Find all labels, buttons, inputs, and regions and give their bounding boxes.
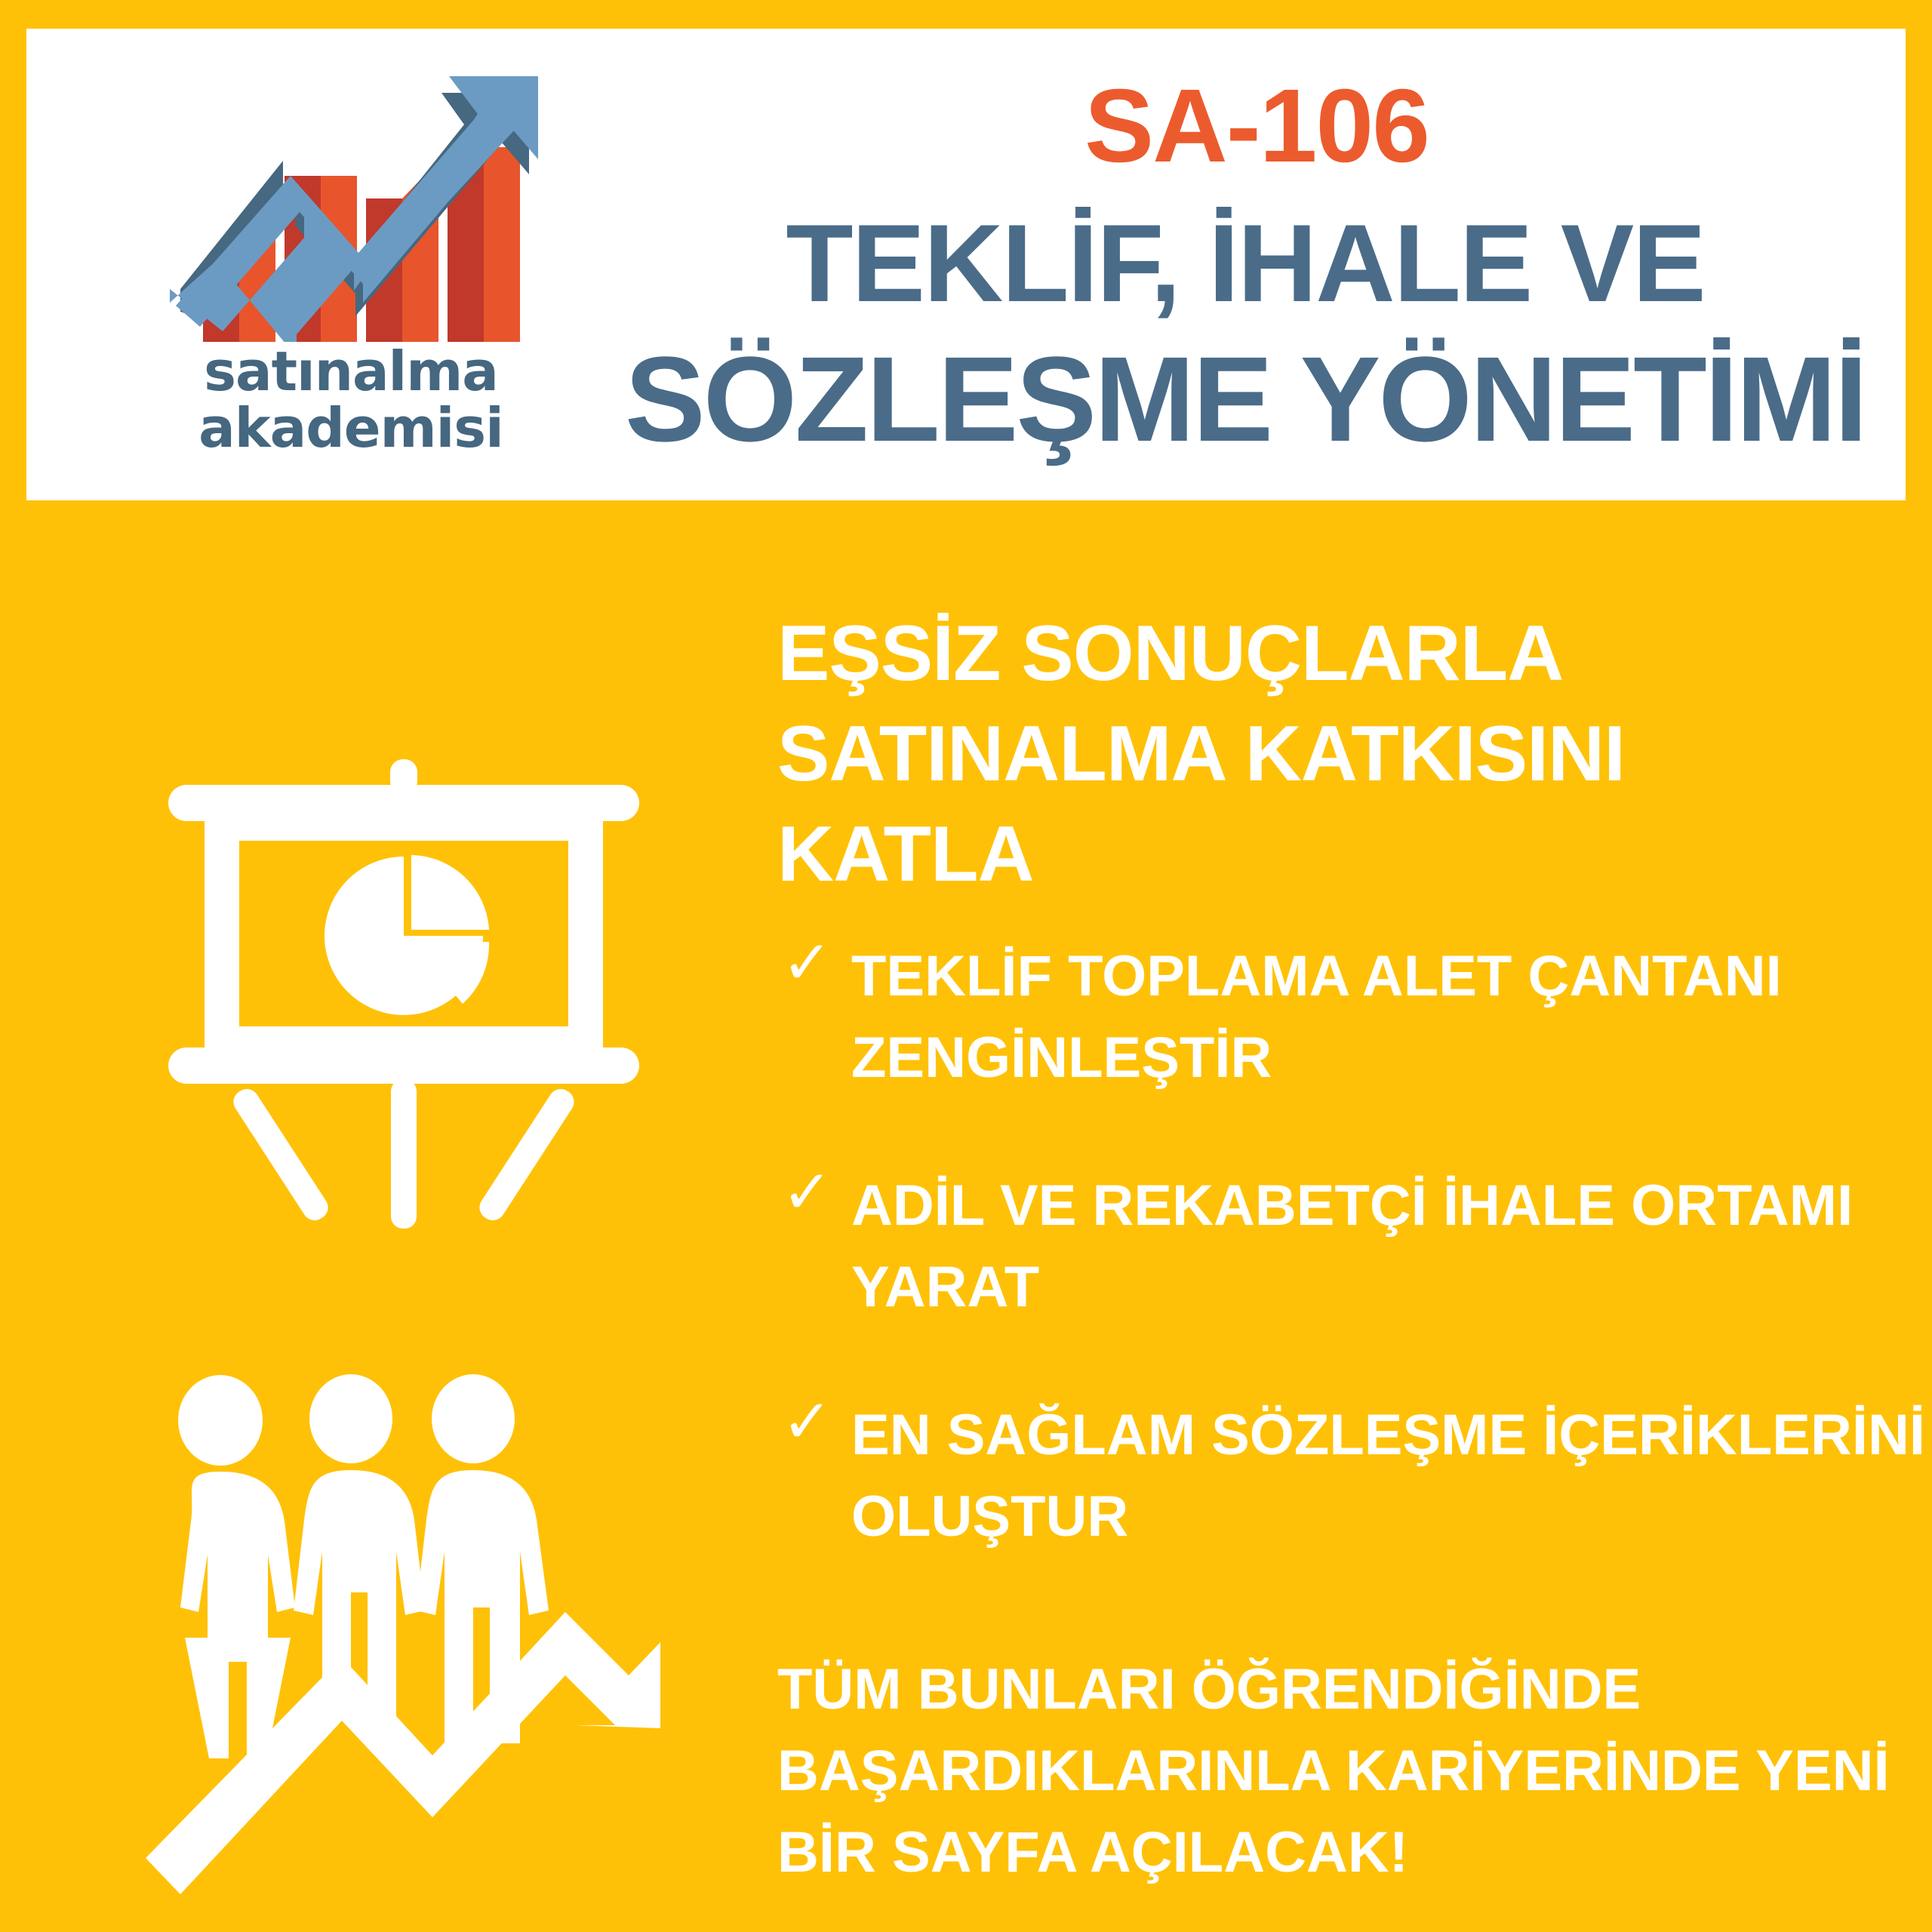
- brand-name-line-2: akademisi: [147, 400, 555, 457]
- check-icon: ✓: [782, 933, 832, 993]
- list-item-line-1: TEKLİF TOPLAMA ALET ÇANTANI: [851, 936, 1879, 1017]
- closing-line-1: TÜM BUNLARI ÖĞRENDİĞİNDE: [777, 1649, 1887, 1730]
- benefits-list: ✓ TEKLİF TOPLAMA ALET ÇANTANI ZENGİNLEŞT…: [777, 936, 1879, 1557]
- closing-paragraph: TÜM BUNLARI ÖĞRENDİĞİNDE BAŞARDIKLARINLA…: [777, 1649, 1887, 1894]
- list-item-line-1: EN SAĞLAM SÖZLEŞME İÇERİKLERİNİ: [851, 1395, 1879, 1476]
- list-item-line-2: ZENGİNLEŞTİR: [851, 1017, 1879, 1099]
- list-item: ✓ EN SAĞLAM SÖZLEŞME İÇERİKLERİNİ OLUŞTU…: [777, 1395, 1879, 1558]
- course-code: SA-106: [600, 74, 1913, 178]
- header-panel: satınalma akademisi SA-106 TEKLİF, İHALE…: [26, 29, 1906, 500]
- main-headline: EŞSİZ SONUÇLARLA SATINALMA KATKISINI KAT…: [777, 604, 1864, 905]
- headline-line-2: SATINALMA KATKISINI: [777, 704, 1864, 804]
- list-item: ✓ TEKLİF TOPLAMA ALET ÇANTANI ZENGİNLEŞT…: [777, 936, 1879, 1099]
- growth-chart-arrow-logo-icon: [170, 63, 547, 342]
- course-title: TEKLİF, İHALE VE SÖZLEŞME YÖNETİMİ: [570, 198, 1921, 471]
- headline-line-1: EŞSİZ SONUÇLARLA: [777, 604, 1864, 704]
- list-item-line-2: YARAT: [851, 1247, 1879, 1328]
- check-icon: ✓: [782, 1392, 832, 1452]
- poster-root: satınalma akademisi SA-106 TEKLİF, İHALE…: [0, 0, 1932, 1932]
- check-icon: ✓: [782, 1162, 832, 1223]
- list-item-line-2: OLUŞTUR: [851, 1476, 1879, 1558]
- presentation-pie-chart-icon: [155, 755, 653, 1238]
- course-title-line-2: SÖZLEŞME YÖNETİMİ: [570, 328, 1921, 471]
- course-title-line-1: TEKLİF, İHALE VE: [570, 198, 1921, 328]
- closing-line-2: BAŞARDIKLARINLA KARİYERİNDE YENİ: [777, 1730, 1887, 1812]
- people-growth-arrow-icon: [132, 1366, 706, 1894]
- closing-line-3: BİR SAYFA AÇILACAK!: [777, 1812, 1887, 1894]
- brand-logo: satınalma akademisi: [147, 63, 555, 485]
- brand-name-line-1: satınalma: [147, 343, 555, 400]
- list-item-text: EN SAĞLAM SÖZLEŞME İÇERİKLERİNİ OLUŞTUR: [851, 1395, 1879, 1558]
- list-item: ✓ ADİL VE REKABETÇİ İHALE ORTAMI YARAT: [777, 1165, 1879, 1328]
- headline-line-3: KATLA: [777, 804, 1864, 905]
- brand-logo-wordmark: satınalma akademisi: [147, 343, 555, 457]
- list-item-text: ADİL VE REKABETÇİ İHALE ORTAMI YARAT: [851, 1165, 1879, 1328]
- list-item-line-1: ADİL VE REKABETÇİ İHALE ORTAMI: [851, 1165, 1879, 1247]
- list-item-text: TEKLİF TOPLAMA ALET ÇANTANI ZENGİNLEŞTİR: [851, 936, 1879, 1099]
